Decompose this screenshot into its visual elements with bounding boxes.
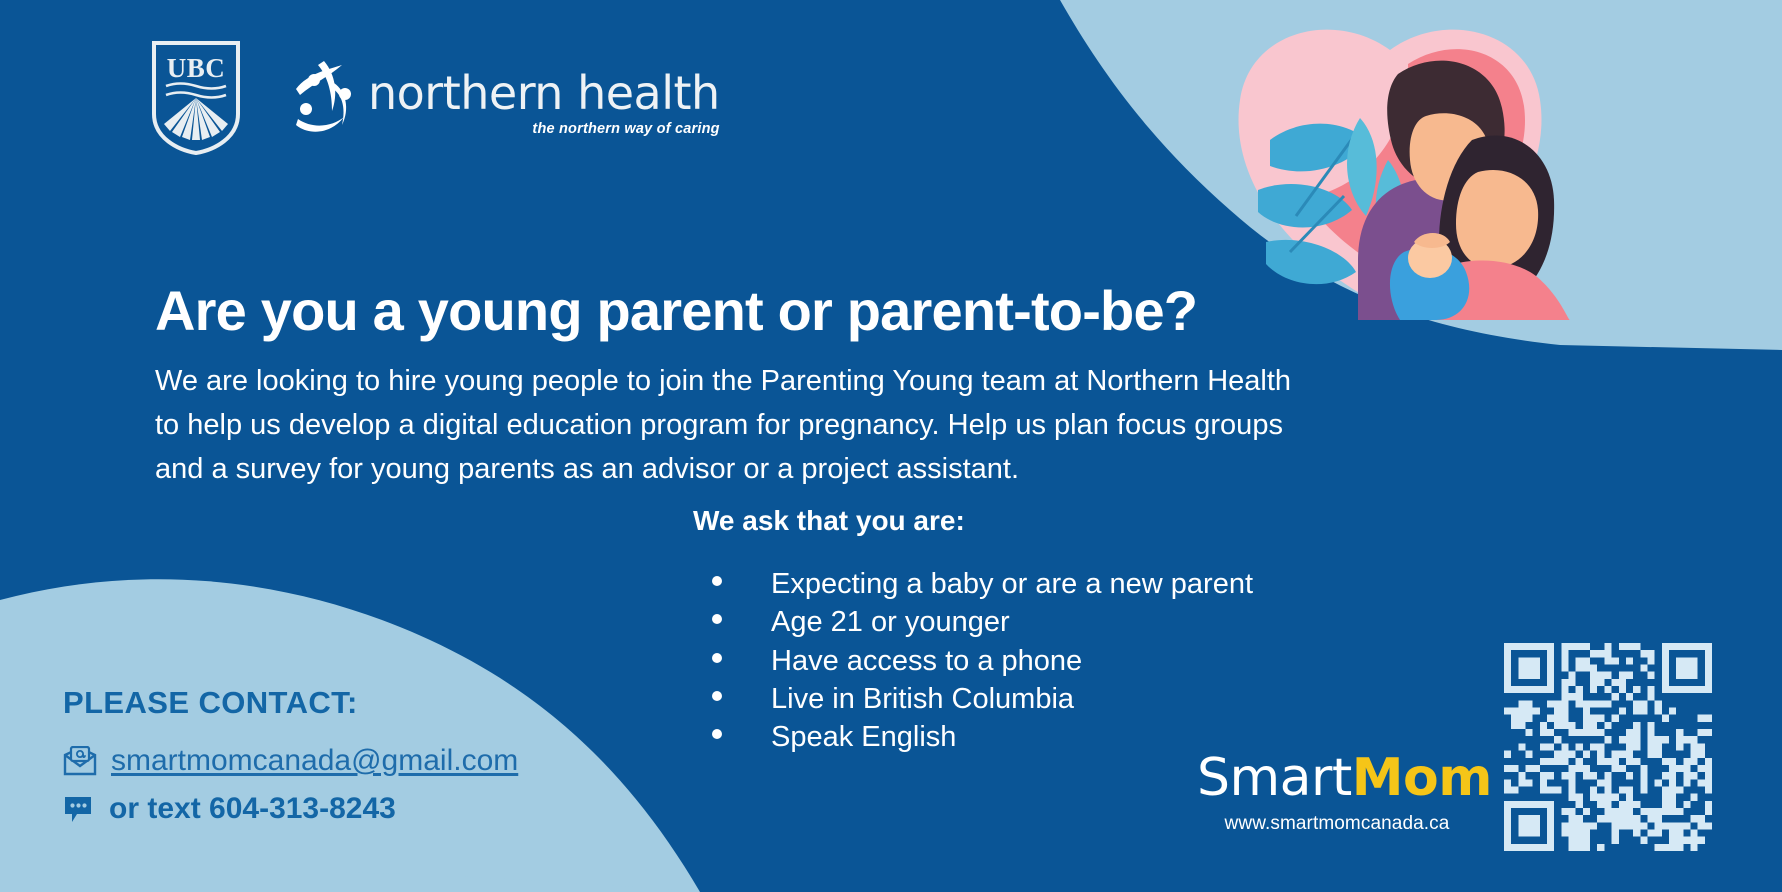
contact-heading: PLEASE CONTACT:: [63, 685, 518, 721]
list-item: Live in British Columbia: [712, 680, 1253, 718]
bullet-icon: [712, 614, 722, 624]
list-item-label: Expecting a baby or are a new parent: [771, 565, 1253, 603]
northern-health-mark: [294, 59, 358, 137]
list-item: Speak English: [712, 718, 1253, 756]
intro-paragraph: We are looking to hire young people to j…: [155, 359, 1305, 491]
email-link[interactable]: smartmomcanada@gmail.com: [111, 744, 518, 778]
smartmom-url: www.smartmomcanada.ca: [1197, 813, 1477, 835]
northern-health-logo: northern health the northern way of cari…: [294, 59, 720, 137]
requirements-list: Expecting a baby or are a new parent Age…: [712, 565, 1253, 756]
list-item: Have access to a phone: [712, 642, 1253, 680]
page-title: Are you a young parent or parent-to-be?: [155, 278, 1197, 343]
chat-bubble-icon: [63, 794, 95, 824]
list-item-label: Have access to a phone: [771, 642, 1082, 680]
list-item-label: Speak English: [771, 718, 956, 756]
logo-row: UBC: [150, 40, 720, 156]
contact-sms-row[interactable]: or text 604-313-8243: [63, 792, 518, 826]
northern-health-tagline: the northern way of caring: [532, 121, 719, 137]
bullet-icon: [712, 729, 722, 739]
poster-canvas: UBC: [0, 0, 1782, 892]
northern-health-title: northern health: [368, 70, 720, 116]
sms-label: or text 604-313-8243: [109, 792, 396, 826]
smartmom-logo: SmartMom www.smartmomcanada.ca: [1197, 752, 1477, 835]
bullet-icon: [712, 576, 722, 586]
smartmom-wordmark: SmartMom: [1197, 752, 1477, 804]
envelope-at-icon: [63, 746, 97, 776]
list-item-label: Age 21 or younger: [771, 603, 1010, 641]
list-item-label: Live in British Columbia: [771, 680, 1074, 718]
list-item: Age 21 or younger: [712, 603, 1253, 641]
requirements-heading: We ask that you are:: [693, 505, 965, 537]
bullet-icon: [712, 691, 722, 701]
contact-email-row[interactable]: smartmomcanada@gmail.com: [63, 744, 518, 778]
list-item: Expecting a baby or are a new parent: [712, 565, 1253, 603]
smartmom-word-mom: Mom: [1352, 748, 1492, 808]
contact-block: PLEASE CONTACT: smartmomcanada@gmail.com: [63, 685, 518, 840]
bullet-icon: [712, 653, 722, 663]
qr-code[interactable]: [1504, 643, 1712, 851]
ubc-shield-label: UBC: [167, 53, 226, 83]
smartmom-word-smart: Smart: [1197, 748, 1352, 808]
ubc-shield-logo: UBC: [150, 40, 242, 156]
